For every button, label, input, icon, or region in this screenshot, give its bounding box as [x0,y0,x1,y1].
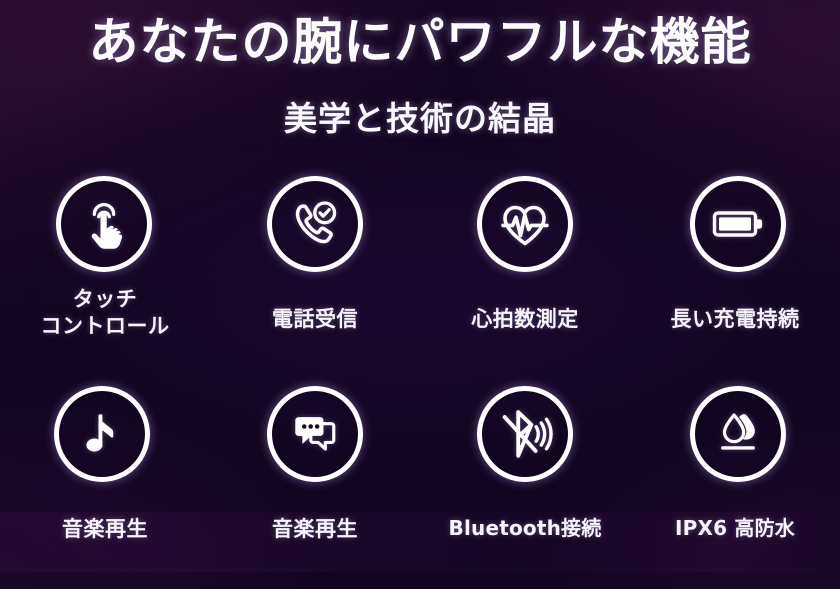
feature-item-music-playback[interactable]: 音楽再生 [0,386,210,582]
feature-item-messages[interactable]: 音楽再生 [210,386,420,582]
feature-item-battery-life[interactable]: 長い充電持続 [630,176,840,386]
bluetooth-signal-icon [477,386,573,482]
battery-full-icon [690,176,786,272]
feature-row-2: 音楽再生 音楽再生 [0,386,840,582]
feature-item-phone-call[interactable]: 電話受信 [210,176,420,386]
phone-call-check-icon [267,176,363,272]
page-subtitle: 美学と技術の結晶 [0,100,840,138]
feature-row-1: タッチ コントロール 電話受信 [0,176,840,386]
feature-label: タッチ コントロール [41,286,170,340]
feature-item-touch-control[interactable]: タッチ コントロール [0,176,210,386]
feature-item-heart-rate[interactable]: 心拍数測定 [420,176,630,386]
feature-label: 電話受信 [272,306,358,333]
feature-item-waterproof[interactable]: IPX6 高防水 [630,386,840,582]
touch-control-icon [56,176,152,272]
feature-item-bluetooth[interactable]: Bluetooth接続 [420,386,630,582]
chat-bubbles-icon [267,386,363,482]
feature-label: Bluetooth接続 [449,516,602,542]
feature-label: 音楽再生 [272,516,358,543]
feature-label: 音楽再生 [62,516,148,543]
waterproof-drop-icon [690,386,786,482]
feature-slide: あなたの腕にパワフルな機能 美学と技術の結晶 タッチ コントロール [0,0,840,589]
music-note-icon [54,386,150,482]
feature-label: IPX6 高防水 [675,516,795,542]
feature-label: 心拍数測定 [471,306,579,333]
page-title: あなたの腕にパワフルな機能 [0,14,840,70]
heart-rate-icon [477,176,573,272]
feature-grid: タッチ コントロール 電話受信 [0,176,840,582]
feature-label: 長い充電持続 [671,306,800,333]
